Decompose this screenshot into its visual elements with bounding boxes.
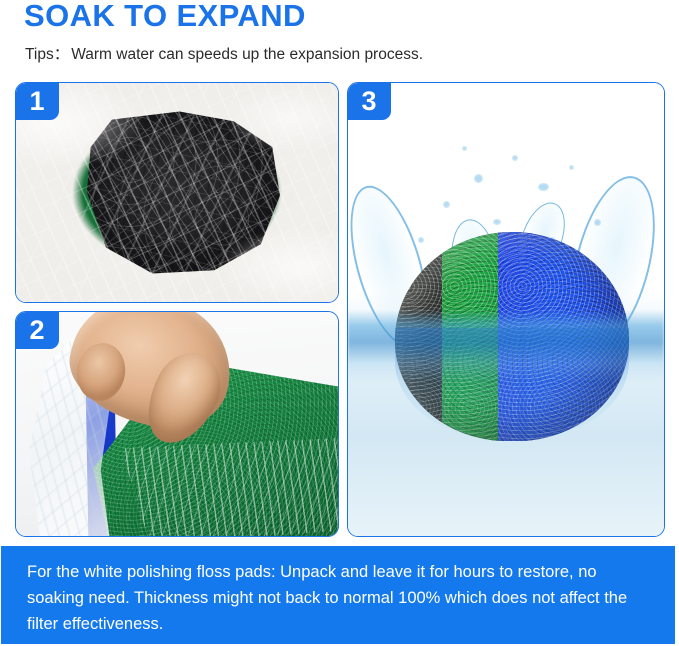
tips-line: Tips：Warm water can speeds up the expans… <box>25 44 423 66</box>
step-3-badge: 3 <box>347 82 391 120</box>
step-1-panel: 1 <box>15 82 339 303</box>
water-droplet <box>474 174 483 183</box>
water-droplet <box>569 165 574 170</box>
water-droplet <box>538 183 549 191</box>
step-2-badge: 2 <box>15 311 59 349</box>
water-droplet <box>443 201 450 208</box>
step-1-image <box>16 83 338 302</box>
water-surface-line <box>348 310 664 382</box>
bottom-note-text: For the white polishing floss pads: Unpa… <box>27 559 649 637</box>
step-2-panel: 2 <box>15 311 339 537</box>
black-carbon-pad-layer <box>87 111 280 273</box>
tips-label: Tips： <box>25 46 69 63</box>
tips-text: Warm water can speeds up the expansion p… <box>71 46 423 63</box>
step-3-panel: 3 <box>347 82 665 537</box>
step-2-image <box>16 312 338 536</box>
step-3-image <box>348 83 664 536</box>
bottom-note-banner: For the white polishing floss pads: Unpa… <box>1 546 675 644</box>
page-title: SOAK TO EXPAND <box>24 0 306 34</box>
step-1-badge: 1 <box>15 82 59 120</box>
